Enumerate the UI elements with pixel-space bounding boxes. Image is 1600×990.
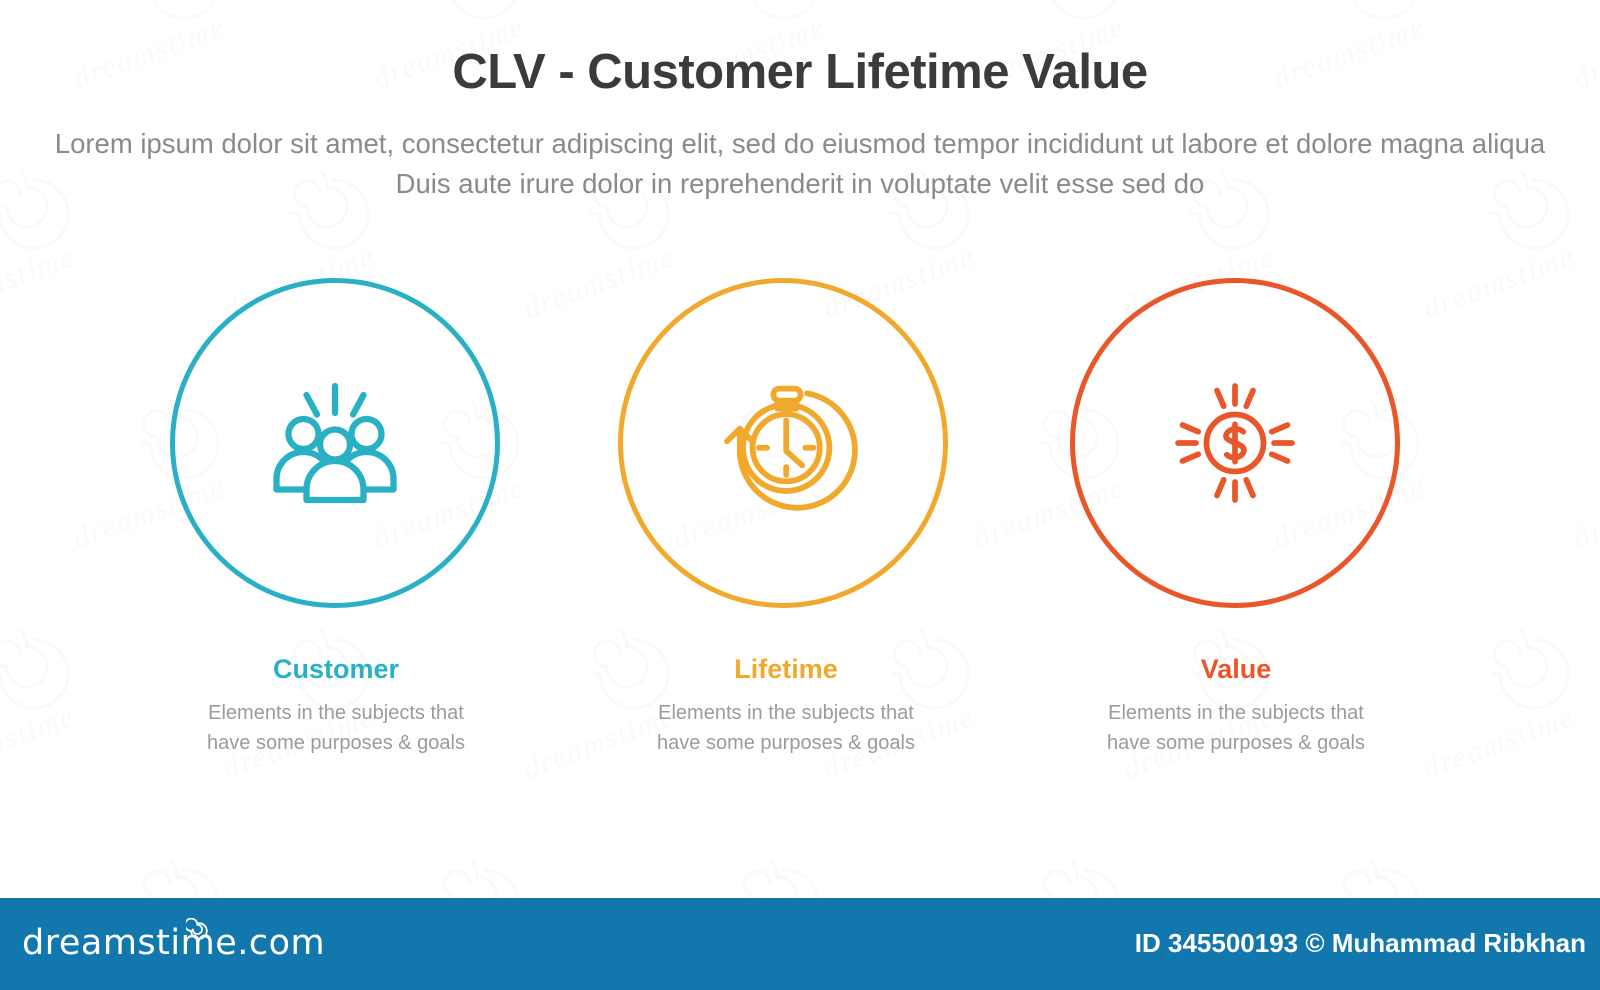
card-description-value: Elements in the subjects that have some … bbox=[1036, 698, 1436, 758]
card-value[interactable]: Value Elements in the subjects that have… bbox=[1006, 270, 1466, 790]
card-title-value: Value bbox=[1006, 654, 1466, 685]
watermark-spiral-icon bbox=[440, 0, 528, 28]
dreamstime-logo-text: dreamstime.com bbox=[22, 923, 325, 963]
card-row: Customer Elements in the subjects that h… bbox=[0, 270, 1600, 790]
card-customer[interactable]: Customer Elements in the subjects that h… bbox=[106, 270, 566, 790]
ring-wrap-value bbox=[1006, 270, 1466, 615]
infographic-canvas: dreamstimedreamstimedreamstimedreamstime… bbox=[0, 0, 1600, 990]
card-description-customer: Elements in the subjects that have some … bbox=[136, 698, 536, 758]
watermark-spiral-icon bbox=[1340, 0, 1428, 28]
watermark-spiral-icon bbox=[140, 0, 228, 28]
card-title-lifetime: Lifetime bbox=[556, 654, 1016, 685]
spiral-icon bbox=[186, 918, 212, 944]
card-description-lifetime: Elements in the subjects that have some … bbox=[586, 698, 986, 758]
ring-wrap-lifetime bbox=[556, 270, 1016, 615]
footer-bar: dreamstime.com ID 345500193 © Muhammad R… bbox=[0, 898, 1600, 990]
stopwatch-refresh-icon bbox=[618, 278, 948, 608]
dollar-sunburst-icon bbox=[1070, 278, 1400, 608]
page-subtitle: Lorem ipsum dolor sit amet, consectetur … bbox=[50, 124, 1550, 204]
card-title-customer: Customer bbox=[106, 654, 566, 685]
dreamstime-logo[interactable]: dreamstime.com bbox=[22, 920, 325, 966]
ring-wrap-customer bbox=[106, 270, 566, 615]
watermark-spiral-icon bbox=[1040, 0, 1128, 28]
page-title: CLV - Customer Lifetime Value bbox=[0, 44, 1600, 100]
group-people-icon bbox=[170, 278, 500, 608]
watermark-spiral-icon bbox=[740, 0, 828, 28]
image-credit: ID 345500193 © Muhammad Ribkhan bbox=[1135, 928, 1586, 959]
card-lifetime[interactable]: Lifetime Elements in the subjects that h… bbox=[556, 270, 1016, 790]
